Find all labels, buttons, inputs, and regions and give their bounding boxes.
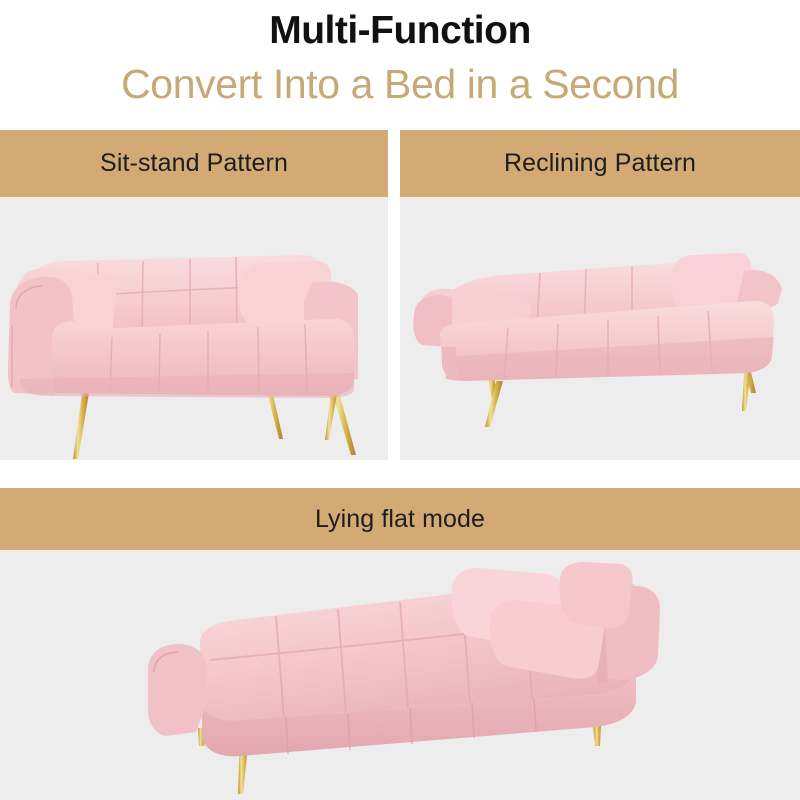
panel-header-label-lying-flat: Lying flat mode xyxy=(0,488,800,550)
panel-photo-sit-stand xyxy=(0,197,388,460)
panel-photo-lying-flat xyxy=(0,550,800,800)
page-title: Multi-Function xyxy=(0,8,800,54)
headline-block: Multi-Function Convert Into a Bed in a S… xyxy=(0,0,800,125)
sofa-image-sit-stand xyxy=(0,197,388,460)
panel-reclining: Reclining Pattern xyxy=(400,130,800,460)
panel-sit-stand: Sit-stand Pattern xyxy=(0,130,388,460)
sofa-arm-left-lying-flat xyxy=(148,644,208,736)
panel-photo-reclining xyxy=(400,197,800,460)
sofa-image-reclining xyxy=(400,197,800,460)
sofa-image-lying-flat xyxy=(0,550,800,800)
infographic-page: Multi-Function Convert Into a Bed in a S… xyxy=(0,0,800,800)
page-subtitle: Convert Into a Bed in a Second xyxy=(0,59,800,109)
pillow-side-lying-flat xyxy=(560,562,633,629)
panel-header-label-reclining: Reclining Pattern xyxy=(400,130,800,197)
panel-lying-flat: Lying flat mode xyxy=(0,488,800,800)
panel-header-label-sit-stand: Sit-stand Pattern xyxy=(0,130,388,197)
